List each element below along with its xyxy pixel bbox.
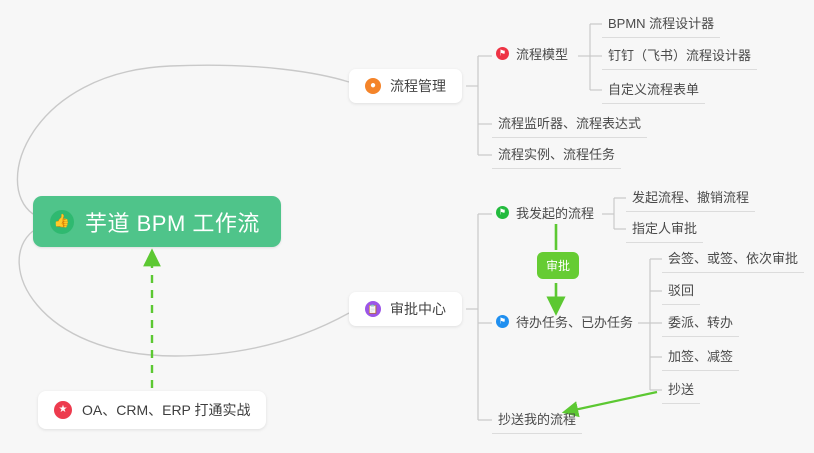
leaf-label: 流程监听器、流程表达式 xyxy=(498,113,641,132)
leaf-label: 抄送我的流程 xyxy=(498,409,576,428)
node-my-initiated[interactable]: ⚑ 我发起的流程 xyxy=(490,200,600,227)
leaf-label: 会签、或签、依次审批 xyxy=(668,248,798,267)
leaf-label: 流程实例、流程任务 xyxy=(498,144,615,163)
leaf-bpmn-designer[interactable]: BPMN 流程设计器 xyxy=(602,10,720,38)
branch-node-approval-center[interactable]: 📋 审批中心 xyxy=(349,292,462,326)
lightbulb-icon: ● xyxy=(365,78,381,94)
node-label-process-model: 流程模型 xyxy=(516,44,568,63)
edge-root-to-approval-center xyxy=(19,231,349,356)
approval-flow-tag-label: 审批 xyxy=(546,259,570,273)
leaf-label: BPMN 流程设计器 xyxy=(608,13,714,32)
node-process-model[interactable]: ⚑ 流程模型 xyxy=(490,41,574,68)
root-node[interactable]: 👍 芋道 BPM 工作流 xyxy=(33,196,281,247)
leaf-label: 加签、减签 xyxy=(668,346,733,365)
branch-label-process-management: 流程管理 xyxy=(390,76,446,96)
root-label: 芋道 BPM 工作流 xyxy=(85,206,260,238)
approval-flow-tag[interactable]: 审批 xyxy=(537,252,579,279)
edge-root-to-process-management xyxy=(17,65,349,214)
leaf-label: 钉钉（飞书）流程设计器 xyxy=(608,45,751,64)
leaf-label: 委派、转办 xyxy=(668,312,733,331)
leaf-label: 抄送 xyxy=(668,379,694,398)
leaf-cc-to-me[interactable]: 抄送我的流程 xyxy=(492,406,582,434)
node-label-my-initiated: 我发起的流程 xyxy=(516,203,594,222)
leaf-label: 指定人审批 xyxy=(632,218,697,237)
leaf-label: 发起流程、撤销流程 xyxy=(632,187,749,206)
leaf-assignee-approval[interactable]: 指定人审批 xyxy=(626,215,703,243)
clipboard-icon: 📋 xyxy=(365,301,381,317)
bottom-card-node[interactable]: ★ OA、CRM、ERP 打通实战 xyxy=(38,391,266,429)
branch-node-process-management[interactable]: ● 流程管理 xyxy=(349,69,462,103)
leaf-delegate-transfer[interactable]: 委派、转办 xyxy=(662,309,739,337)
leaf-listener-expression[interactable]: 流程监听器、流程表达式 xyxy=(492,110,647,138)
star-icon: ★ xyxy=(54,401,72,419)
leaf-start-cancel-process[interactable]: 发起流程、撤销流程 xyxy=(626,184,755,212)
mindmap-canvas: 👍 芋道 BPM 工作流 ● 流程管理 ⚑ 流程模型 BPMN 流程设计器 钉钉… xyxy=(0,0,814,453)
leaf-countersign[interactable]: 会签、或签、依次审批 xyxy=(662,245,804,273)
bottom-card-label: OA、CRM、ERP 打通实战 xyxy=(82,400,251,420)
thumbs-up-icon: 👍 xyxy=(50,210,74,234)
flag-icon: ⚑ xyxy=(496,206,509,219)
leaf-dingtalk-designer[interactable]: 钉钉（飞书）流程设计器 xyxy=(602,42,757,70)
flag-icon: ⚑ xyxy=(496,47,509,60)
leaf-custom-form[interactable]: 自定义流程表单 xyxy=(602,76,705,104)
leaf-reject[interactable]: 驳回 xyxy=(662,277,700,305)
node-label-todo-done: 待办任务、已办任务 xyxy=(516,312,633,331)
node-todo-done[interactable]: ⚑ 待办任务、已办任务 xyxy=(490,309,639,336)
leaf-label: 驳回 xyxy=(668,280,694,299)
branch-label-approval-center: 审批中心 xyxy=(390,299,446,319)
leaf-label: 自定义流程表单 xyxy=(608,79,699,98)
leaf-instance-task[interactable]: 流程实例、流程任务 xyxy=(492,141,621,169)
leaf-cc[interactable]: 抄送 xyxy=(662,376,700,404)
flag-icon: ⚑ xyxy=(496,315,509,328)
leaf-add-remove-sign[interactable]: 加签、减签 xyxy=(662,343,739,371)
